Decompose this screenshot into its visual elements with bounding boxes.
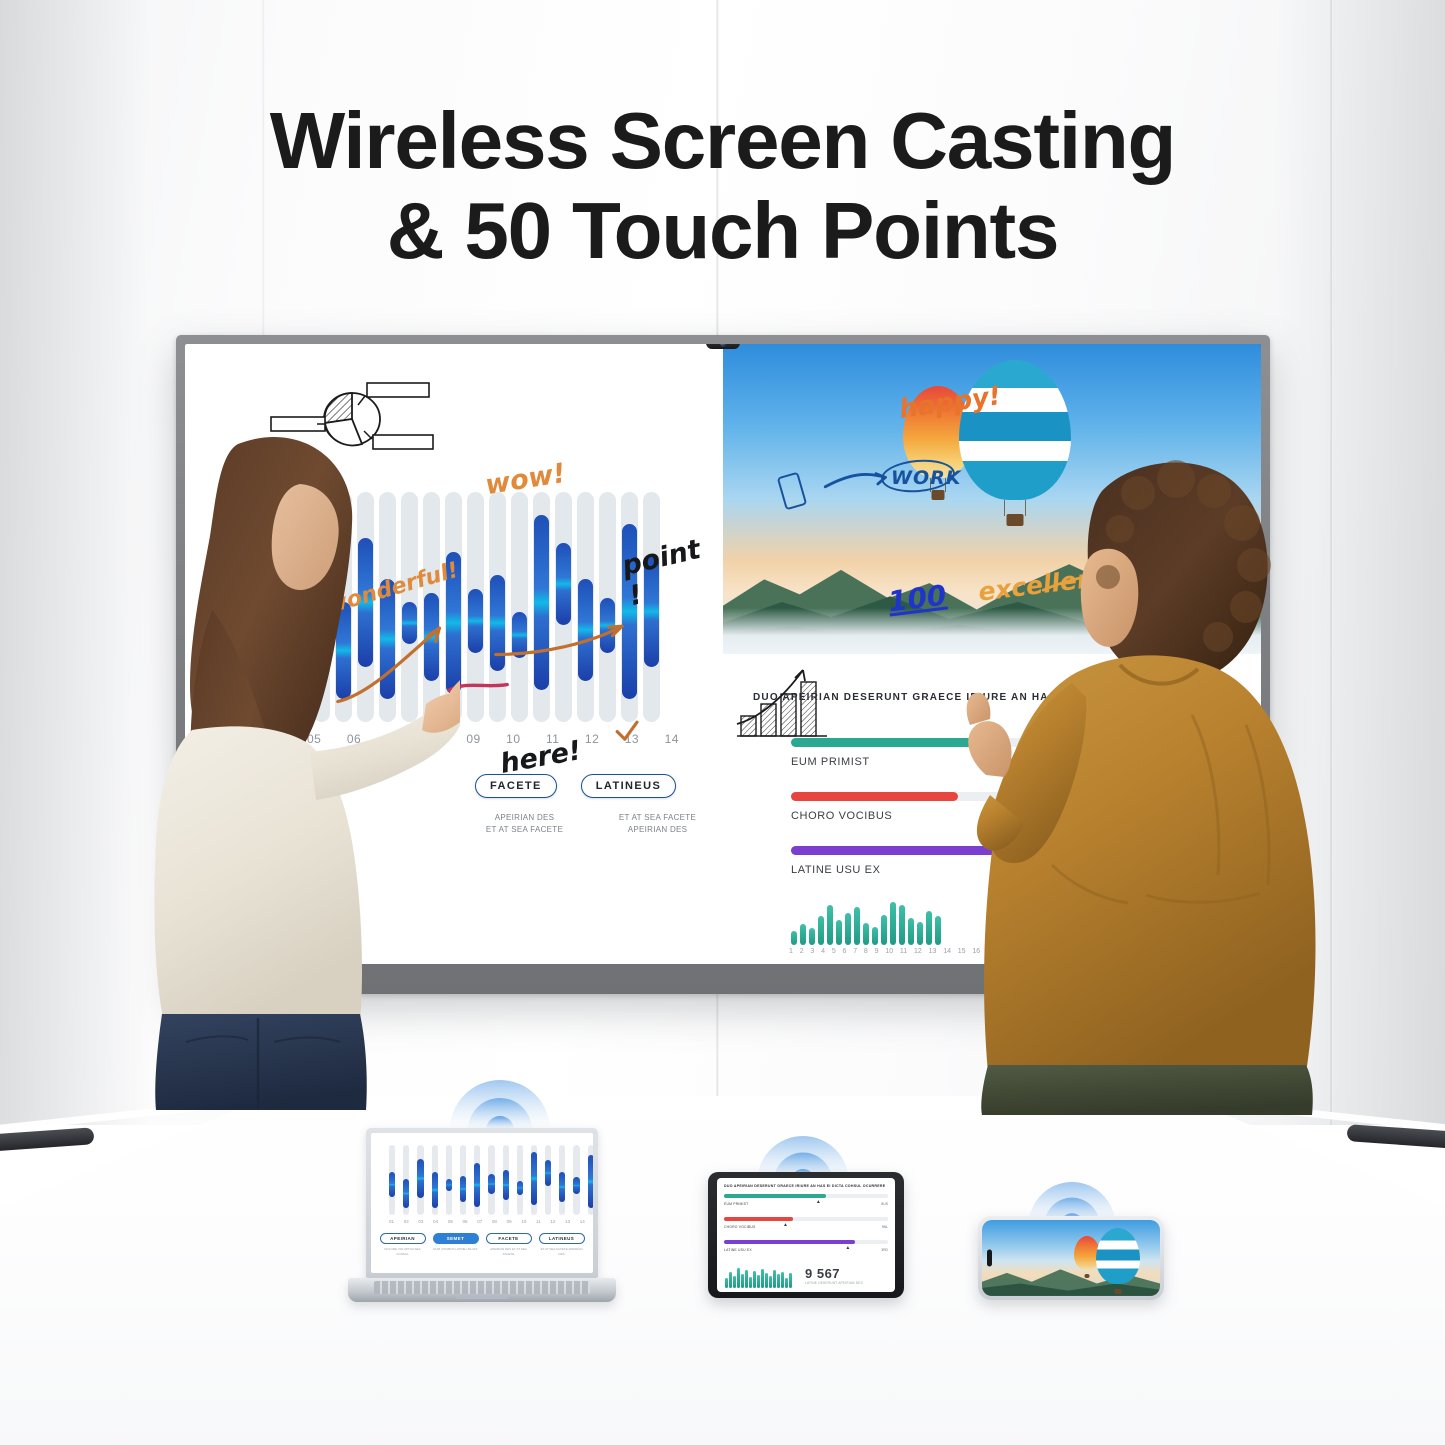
laptop-axis-tick: 12 <box>550 1219 555 1224</box>
axis-tick: 10 <box>506 732 520 746</box>
pill-facete[interactable]: FACETE <box>475 774 557 798</box>
bar-column <box>489 492 506 722</box>
bar-value <box>534 515 549 690</box>
laptop-axis-tick: 09 <box>507 1219 512 1224</box>
tablet-metric-label: LATINE USU EX <box>724 1248 752 1252</box>
axis-tick: 09 <box>466 732 480 746</box>
tablet-metric-value: 9NL <box>882 1225 888 1229</box>
tablet-screen-content[interactable]: DUO APEIRIAN DESERUNT GRAECE IRIURE AN H… <box>717 1178 895 1292</box>
mini-bar <box>917 922 923 945</box>
laptop-pill-caption: DOLORE VOLUPTUA SEA CONSUL <box>380 1247 426 1256</box>
mini-bar <box>899 905 905 945</box>
tablet-mini-bar <box>761 1269 764 1288</box>
laptop-keyboard-base <box>348 1278 616 1302</box>
progress-fill <box>791 738 983 747</box>
bar-value <box>468 589 483 653</box>
laptop-bar-value <box>474 1163 480 1206</box>
tablet-mini-bar <box>729 1272 732 1288</box>
phone-frame <box>978 1216 1164 1300</box>
laptop-bar-column <box>573 1145 579 1215</box>
laptop-bar-value <box>503 1170 509 1199</box>
laptop-bar-column <box>531 1145 537 1215</box>
laptop-bar-value <box>446 1179 452 1192</box>
laptop-pill-caption: ET AT SEA FACETE APEIRIAN DES <box>539 1247 585 1256</box>
tablet-progress-fill <box>724 1240 855 1244</box>
mini-bar <box>854 907 860 945</box>
mini-bar <box>791 931 797 945</box>
axis-tick: 14 <box>665 732 679 746</box>
tablet-mini-chart <box>725 1268 799 1288</box>
annotation-100: 100 <box>886 579 948 619</box>
tablet-progress-track: ▲ <box>724 1194 888 1198</box>
bar-value <box>556 543 571 626</box>
mini-bar <box>908 918 914 945</box>
product-marketing-image: Wireless Screen Casting & 50 Touch Point… <box>0 0 1445 1445</box>
bar-track <box>511 492 528 722</box>
laptop-bar-column <box>488 1145 494 1215</box>
mini-axis-tick: 9 <box>875 948 879 955</box>
bar-column <box>577 492 594 722</box>
laptop-bar-value <box>559 1172 565 1203</box>
bar-column <box>467 492 484 722</box>
mini-bar <box>935 916 941 945</box>
mini-axis-tick: 2 <box>800 948 804 955</box>
tablet-progress-fill <box>724 1194 826 1198</box>
laptop-axis-tick: 14 <box>580 1219 585 1224</box>
tablet-metric-value: 3RD <box>881 1248 888 1252</box>
laptop-pill-caption: APEIRIAN DES ET AT SEA FACETE <box>486 1247 532 1256</box>
pill-caption-facete: APEIRIAN DES ET AT SEA FACETE <box>467 812 582 836</box>
laptop-axis-tick: 04 <box>433 1219 438 1224</box>
mini-axis-tick: 7 <box>853 948 857 955</box>
tablet-mini-bar <box>741 1274 744 1288</box>
tablet-progress-marker: ▲ <box>816 1199 821 1205</box>
axis-tick: 12 <box>585 732 599 746</box>
tablet-progress-marker: ▲ <box>783 1222 788 1228</box>
mini-axis-tick: 14 <box>943 948 951 955</box>
mini-bar <box>926 911 932 945</box>
laptop-pill-latineus[interactable]: LATINEUS <box>539 1233 585 1244</box>
laptop-bar-column <box>559 1145 565 1215</box>
laptop-bar-value <box>517 1181 523 1195</box>
laptop-bar-column <box>503 1145 509 1215</box>
laptop-bar-track <box>517 1145 523 1215</box>
laptop-axis-tick: 13 <box>565 1219 570 1224</box>
laptop-axis-tick: 02 <box>404 1219 409 1224</box>
bar-column <box>599 492 616 722</box>
mini-bar <box>809 928 815 945</box>
laptop-bar-value <box>432 1172 438 1208</box>
laptop-bar-column <box>446 1145 452 1215</box>
laptop-axis-tick: 03 <box>418 1219 423 1224</box>
bar-column <box>533 492 550 722</box>
laptop-axis-tick: 08 <box>492 1219 497 1224</box>
tablet-mini-bar <box>781 1272 784 1288</box>
mini-axis-tick: 10 <box>885 948 893 955</box>
tablet-mini-bar <box>725 1278 728 1288</box>
wifi-signal-tablet <box>748 1090 858 1182</box>
laptop-bar-chart <box>389 1145 593 1215</box>
laptop-bar-column <box>389 1145 395 1215</box>
tablet-metric-row[interactable]: ▲LATINE USU EX3RD <box>724 1240 888 1252</box>
tablet-metrics[interactable]: ▲EUM PRIMIST8US▲CHORO VOCIBUS9NL▲LATINE … <box>724 1194 888 1263</box>
laptop-bar-value <box>488 1174 494 1194</box>
laptop-pill-caption: EUM VOCIBUS LATINE USU EX <box>433 1247 479 1256</box>
laptop-pill-facete[interactable]: FACETE <box>486 1233 532 1244</box>
tablet-mini-bar <box>777 1274 780 1288</box>
wifi-signal-laptop <box>440 1030 560 1130</box>
mini-bar <box>881 915 887 945</box>
mini-axis-tick: 12 <box>914 948 922 955</box>
whiteboard-filter-pills[interactable]: FACETE LATINEUS <box>475 774 705 798</box>
phone-device[interactable] <box>978 1216 1164 1300</box>
laptop-chart-axis: 0102030405060708091011121314 <box>389 1219 585 1224</box>
laptop-bar-value <box>573 1177 579 1194</box>
tablet-mini-bar <box>737 1268 740 1288</box>
laptop-axis-tick: 07 <box>477 1219 482 1224</box>
tablet-metric-row[interactable]: ▲EUM PRIMIST8US <box>724 1194 888 1206</box>
laptop-axis-tick: 06 <box>463 1219 468 1224</box>
headline-line-1: Wireless Screen Casting <box>270 96 1175 185</box>
laptop-bar-column <box>545 1145 551 1215</box>
tablet-device[interactable]: DUO APEIRIAN DESERUNT GRAECE IRIURE AN H… <box>708 1172 904 1298</box>
laptop-axis-tick: 05 <box>448 1219 453 1224</box>
tablet-mini-bar <box>745 1270 748 1288</box>
tablet-metric-row[interactable]: ▲CHORO VOCIBUS9NL <box>724 1217 888 1229</box>
mini-bar <box>836 920 842 945</box>
tablet-progress-fill <box>724 1217 793 1221</box>
progress-fill <box>791 792 958 801</box>
webcam-icon <box>706 344 740 349</box>
laptop-axis-tick: 10 <box>521 1219 526 1224</box>
laptop-bar-column <box>517 1145 523 1215</box>
mini-axis-tick: 3 <box>810 948 814 955</box>
wifi-signal-phone <box>1020 1138 1124 1226</box>
bar-value <box>578 579 593 680</box>
laptop-filter-pills[interactable]: APEIRIANSEMETFACETELATINEUS <box>371 1233 593 1244</box>
tablet-big-number: 9 567 <box>805 1266 840 1281</box>
laptop-bar-column <box>403 1145 409 1215</box>
laptop-bar-value <box>389 1172 395 1197</box>
person-woman-presenting <box>150 430 460 1110</box>
laptop-keyboard[interactable] <box>374 1281 590 1294</box>
mini-axis-tick: 6 <box>843 948 847 955</box>
mini-axis-tick: 1 <box>789 948 793 955</box>
laptop-screen[interactable]: 0102030405060708091011121314 APEIRIANSEM… <box>366 1128 598 1278</box>
person-man-presenting <box>960 425 1380 1115</box>
tablet-mini-bar <box>789 1273 792 1288</box>
mini-bar <box>890 902 896 945</box>
laptop-screen-content[interactable]: 0102030405060708091011121314 APEIRIANSEM… <box>371 1133 593 1273</box>
pill-latineus[interactable]: LATINEUS <box>581 774 676 798</box>
bar-value <box>600 598 615 653</box>
pill-caption-latineus: ET AT SEA FACETE APEIRIAN DES <box>600 812 715 836</box>
mini-axis-tick: 8 <box>864 948 868 955</box>
bar-column <box>555 492 572 722</box>
chair-armrest-left <box>0 1127 94 1151</box>
laptop-bar-column <box>432 1145 438 1215</box>
annotation-work: WORK <box>891 467 961 489</box>
tablet-big-number-caption: LATINE DESERUNT APEIRIAN DES <box>805 1281 863 1285</box>
mini-bar <box>800 924 806 945</box>
tablet-mini-bar <box>769 1276 772 1288</box>
laptop-axis-tick: 01 <box>389 1219 394 1224</box>
tablet-progress-marker: ▲ <box>845 1245 850 1251</box>
laptop-bar-column <box>474 1145 480 1215</box>
laptop-bar-column <box>588 1145 593 1215</box>
phone-sketch-icon <box>777 472 808 511</box>
laptop-axis-tick: 11 <box>536 1219 541 1224</box>
axis-tick: 13 <box>625 732 639 746</box>
mini-axis-tick: 13 <box>929 948 937 955</box>
mini-axis-tick: 4 <box>821 948 825 955</box>
phone-camera-cutout <box>987 1250 992 1267</box>
bar-value <box>490 575 505 672</box>
tablet-mini-bar <box>757 1275 760 1288</box>
mini-bar <box>863 923 869 945</box>
tablet-mini-bar <box>753 1271 756 1288</box>
tablet-frame: DUO APEIRIAN DESERUNT GRAECE IRIURE AN H… <box>708 1172 904 1298</box>
mini-bar <box>818 916 824 945</box>
tablet-mini-bar <box>733 1276 736 1288</box>
tablet-mini-bar <box>749 1277 752 1288</box>
laptop-pill-apeirian[interactable]: APEIRIAN <box>380 1233 426 1244</box>
tablet-metric-label: EUM PRIMIST <box>724 1202 748 1206</box>
laptop-bar-value <box>417 1159 423 1198</box>
laptop-bar-value <box>545 1160 551 1185</box>
tablet-title: DUO APEIRIAN DESERUNT GRAECE IRIURE AN H… <box>724 1184 888 1188</box>
tablet-mini-bar <box>785 1278 788 1288</box>
laptop-pill-captions: DOLORE VOLUPTUA SEA CONSULEUM VOCIBUS LA… <box>371 1247 593 1256</box>
tablet-metric-value: 8US <box>881 1202 888 1206</box>
phone-screen-content[interactable] <box>982 1220 1160 1296</box>
page-title: Wireless Screen Casting & 50 Touch Point… <box>0 96 1445 275</box>
laptop-bar-value <box>460 1176 466 1203</box>
mini-bar <box>827 905 833 945</box>
mini-axis-tick: 11 <box>900 948 907 955</box>
tablet-mini-bar <box>773 1270 776 1288</box>
tablet-progress-track: ▲ <box>724 1217 888 1221</box>
laptop-trackpad[interactable] <box>456 1295 508 1299</box>
laptop-pill-semet[interactable]: SEMET <box>433 1233 479 1244</box>
bar-value <box>512 612 527 658</box>
laptop-bar-value <box>403 1179 409 1208</box>
mini-axis-tick: 5 <box>832 948 836 955</box>
mini-bar <box>845 913 851 945</box>
tablet-progress-track: ▲ <box>724 1240 888 1244</box>
laptop-device[interactable]: 0102030405060708091011121314 APEIRIANSEM… <box>348 1128 616 1308</box>
laptop-bar-column <box>460 1145 466 1215</box>
phone-balloon-blue <box>1096 1228 1140 1284</box>
bar-column <box>511 492 528 722</box>
tablet-mini-bar <box>765 1273 768 1288</box>
laptop-bar-value <box>588 1155 593 1208</box>
laptop-bar-value <box>531 1152 537 1205</box>
laptop-bar-column <box>417 1145 423 1215</box>
headline-line-2: & 50 Touch Points <box>0 186 1445 276</box>
tablet-metric-label: CHORO VOCIBUS <box>724 1225 755 1229</box>
whiteboard-pill-captions: APEIRIAN DES ET AT SEA FACETE ET AT SEA … <box>467 812 715 836</box>
mini-bar <box>872 927 878 945</box>
